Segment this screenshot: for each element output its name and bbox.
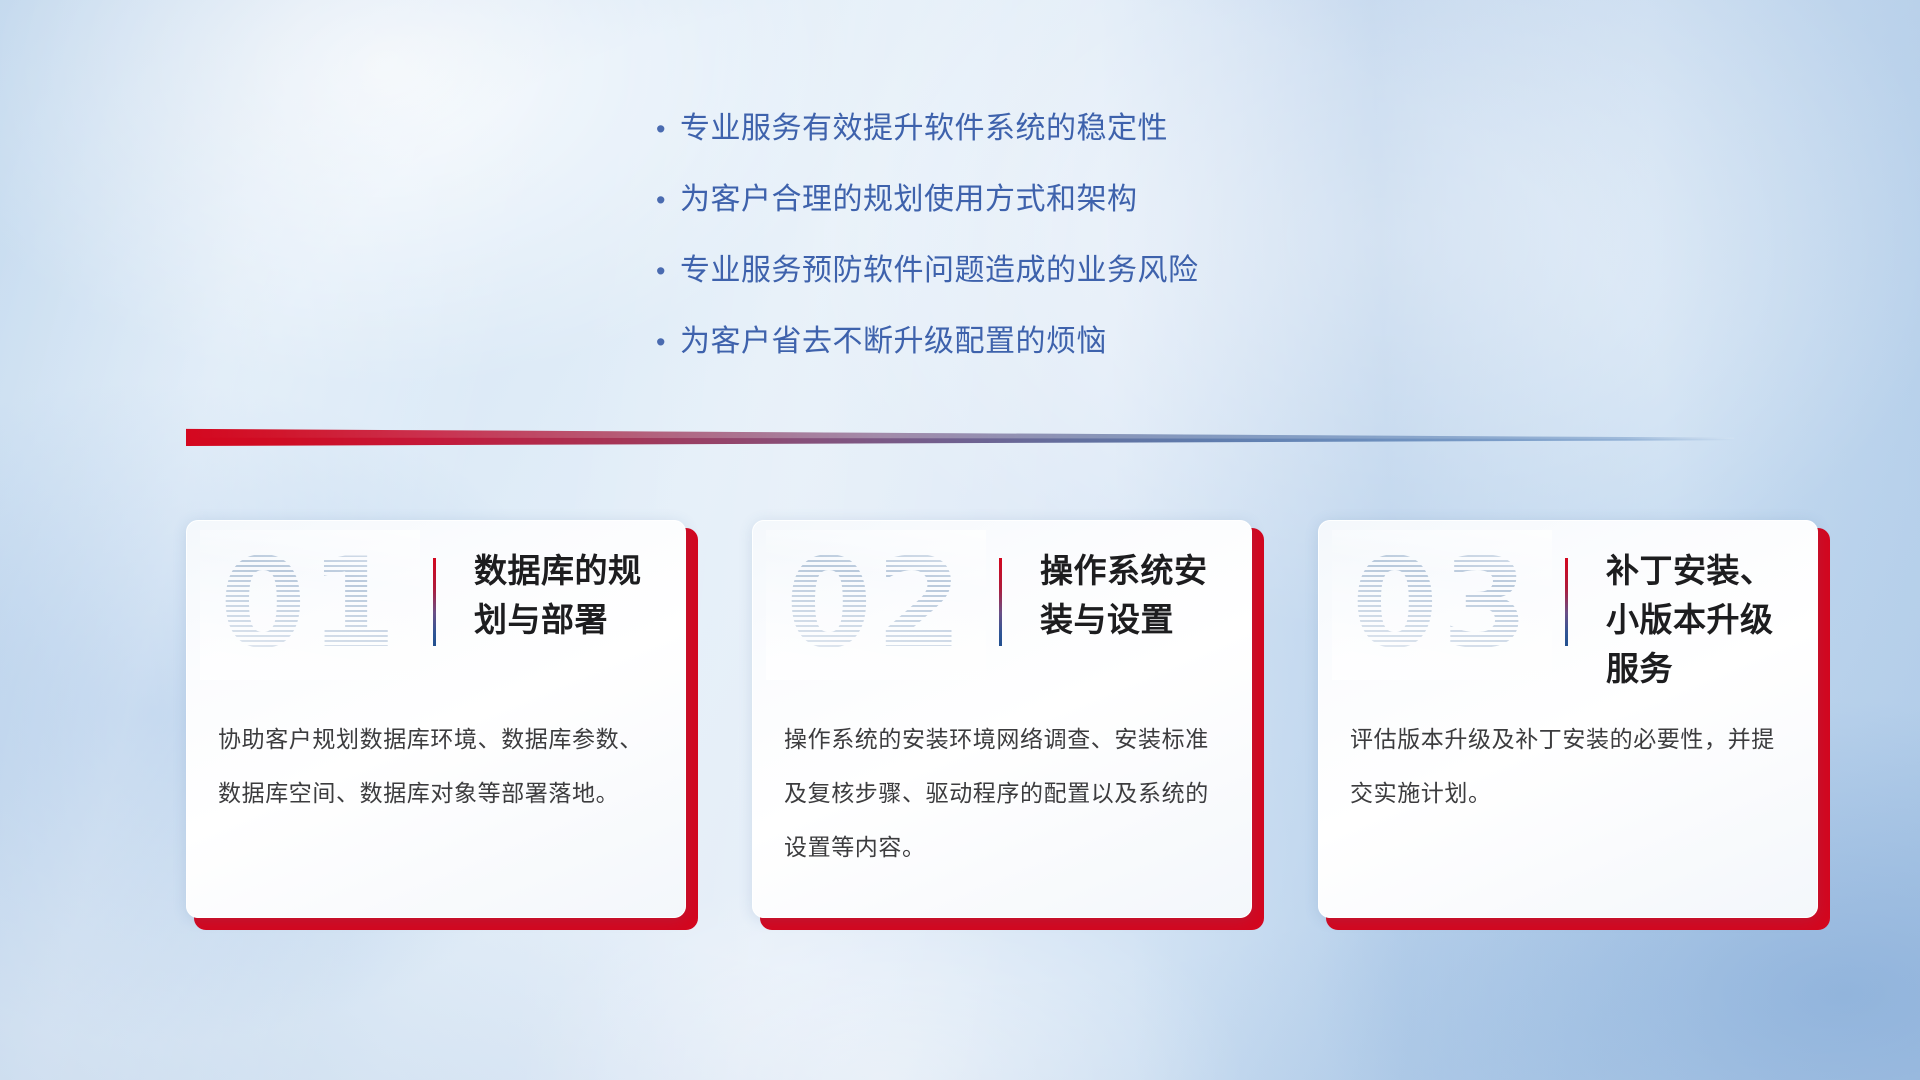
card-number-watermark: 02 bbox=[776, 536, 976, 672]
card-body: 03 补丁安装、小版本升级服务 评估版本升级及补丁安装的必要性，并提交实施计划。 bbox=[1318, 520, 1818, 918]
card-title-divider-bar bbox=[433, 558, 436, 646]
card-title: 操作系统安装与设置 bbox=[1040, 546, 1236, 644]
bullet-text: 为客户合理的规划使用方式和架构 bbox=[680, 179, 1138, 221]
card-description: 操作系统的安装环境网络调查、安装标准及复核步骤、驱动程序的配置以及系统的设置等内… bbox=[784, 712, 1224, 874]
bullet-dot-icon: • bbox=[656, 108, 680, 150]
bullet-text: 专业服务预防软件问题造成的业务风险 bbox=[680, 250, 1199, 292]
bullet-text: 为客户省去不断升级配置的烦恼 bbox=[680, 321, 1107, 363]
card-description: 评估版本升级及补丁安装的必要性，并提交实施计划。 bbox=[1350, 712, 1790, 820]
service-card[interactable]: 03 补丁安装、小版本升级服务 评估版本升级及补丁安装的必要性，并提交实施计划。 bbox=[1318, 520, 1818, 918]
card-title-divider-bar bbox=[999, 558, 1002, 646]
service-card[interactable]: 01 数据库的规划与部署 协助客户规划数据库环境、数据库参数、数据库空间、数据库… bbox=[186, 520, 686, 918]
list-item: • 专业服务有效提升软件系统的稳定性 bbox=[656, 108, 1436, 150]
bullet-dot-icon: • bbox=[656, 179, 680, 221]
card-description: 协助客户规划数据库环境、数据库参数、数据库空间、数据库对象等部署落地。 bbox=[218, 712, 658, 820]
list-item: • 为客户合理的规划使用方式和架构 bbox=[656, 179, 1436, 221]
card-header: 02 操作系统安装与设置 bbox=[752, 520, 1252, 686]
card-title: 补丁安装、小版本升级服务 bbox=[1606, 546, 1802, 693]
card-body: 01 数据库的规划与部署 协助客户规划数据库环境、数据库参数、数据库空间、数据库… bbox=[186, 520, 686, 918]
card-number-watermark: 03 bbox=[1342, 536, 1542, 672]
benefits-bullet-list: • 专业服务有效提升软件系统的稳定性 • 为客户合理的规划使用方式和架构 • 专… bbox=[656, 108, 1436, 392]
service-card-row: 01 数据库的规划与部署 协助客户规划数据库环境、数据库参数、数据库空间、数据库… bbox=[186, 520, 1818, 918]
card-number-watermark: 01 bbox=[210, 536, 410, 672]
service-card[interactable]: 02 操作系统安装与设置 操作系统的安装环境网络调查、安装标准及复核步骤、驱动程… bbox=[752, 520, 1252, 918]
card-header: 01 数据库的规划与部署 bbox=[186, 520, 686, 686]
gradient-divider bbox=[186, 424, 1734, 446]
card-title-divider-bar bbox=[1565, 558, 1568, 646]
card-number-fade-overlay bbox=[766, 530, 986, 680]
bullet-dot-icon: • bbox=[656, 321, 680, 363]
bullet-dot-icon: • bbox=[656, 250, 680, 292]
card-header: 03 补丁安装、小版本升级服务 bbox=[1318, 520, 1818, 686]
card-title: 数据库的规划与部署 bbox=[474, 546, 670, 644]
list-item: • 专业服务预防软件问题造成的业务风险 bbox=[656, 250, 1436, 292]
card-number-fade-overlay bbox=[1332, 530, 1552, 680]
list-item: • 为客户省去不断升级配置的烦恼 bbox=[656, 321, 1436, 363]
card-number-fade-overlay bbox=[200, 530, 420, 680]
bullet-text: 专业服务有效提升软件系统的稳定性 bbox=[680, 108, 1168, 150]
card-body: 02 操作系统安装与设置 操作系统的安装环境网络调查、安装标准及复核步骤、驱动程… bbox=[752, 520, 1252, 918]
